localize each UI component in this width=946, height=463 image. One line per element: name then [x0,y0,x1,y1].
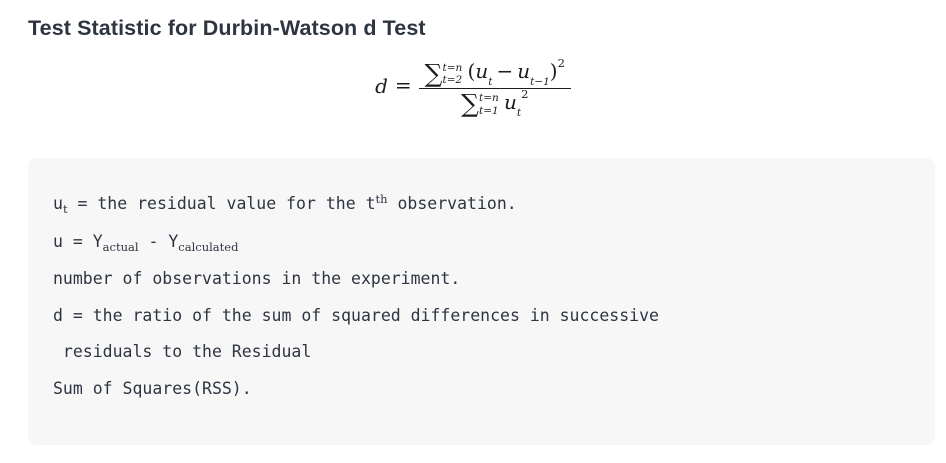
numerator-term2-base: u [517,59,530,83]
definition-line-u-equation: u = Yactual - Ycalculated [53,224,935,262]
numerator-minus-sign: − [496,59,513,83]
formula-numerator: ∑t=nt=2(ut−ut−1)2 [419,61,571,89]
formula-equals-sign: = [395,73,412,97]
text-run: u = Y [53,232,103,251]
subscript: actual [103,240,139,254]
denominator-exponent: 2 [521,87,528,101]
formula-fraction: ∑t=nt=2(ut−ut−1)2 ∑t=nt=1ut2 [419,61,571,116]
subscript: t [63,202,68,216]
page-title: Test Statistic for Durbin-Watson d Test [28,16,426,41]
superscript: th [376,192,388,206]
text-run: number of observations in the experiment… [53,269,460,288]
denominator-sum-glyph: ∑ [461,89,479,118]
text-run: residuals to the Residual [53,342,311,361]
numerator-upper-limit: t=n [443,63,463,74]
denominator-lower-limit: t=1 [479,106,499,117]
definition-line-observations-count: number of observations in the experiment… [53,261,935,298]
text-run: observation. [388,194,517,213]
text-run: u [53,194,63,213]
text-run: Sum of Squares(RSS). [53,379,252,398]
numerator-lower-limit: t=2 [443,75,463,86]
numerator-term1-base: u [475,59,488,83]
denominator-sum-icon: ∑t=nt=1 [461,94,479,114]
page-root: Test Statistic for Durbin-Watson d Test … [0,0,946,463]
definition-line-residual-definition: ut = the residual value for the tth obse… [53,186,935,224]
numerator-sum-glyph: ∑ [425,59,443,88]
durbin-watson-formula: d= ∑t=nt=2(ut−ut−1)2 ∑t=nt=1ut2 [375,60,571,115]
text-run: = the residual value for the t [68,194,376,213]
definition-line-d-definition: d = the ratio of the sum of squared diff… [53,298,935,335]
denominator-upper-limit: t=n [479,93,499,104]
text-run: - Y [139,232,179,251]
subscript: calculated [178,240,238,254]
definition-line-rss-definition: Sum of Squares(RSS). [53,371,935,408]
definition-card: ut = the residual value for the tth obse… [28,158,935,445]
formula-denominator: ∑t=nt=1ut2 [419,89,571,117]
definition-list: ut = the residual value for the tth obse… [53,186,935,407]
formula-lhs-symbol: d [375,74,388,98]
numerator-term2-subscript: t−1 [530,76,550,88]
denominator-term-subscript: t [517,107,521,119]
formula-block: d= ∑t=nt=2(ut−ut−1)2 ∑t=nt=1ut2 [0,60,946,115]
denominator-term-base: u [504,90,517,114]
numerator-close-paren: ) [550,59,558,83]
numerator-sum-icon: ∑t=nt=2 [425,64,443,84]
definition-line-d-definition-continued: residuals to the Residual [53,334,935,371]
numerator-exponent: 2 [558,56,565,70]
text-run: d = the ratio of the sum of squared diff… [53,306,659,325]
numerator-term1-subscript: t [488,76,492,88]
